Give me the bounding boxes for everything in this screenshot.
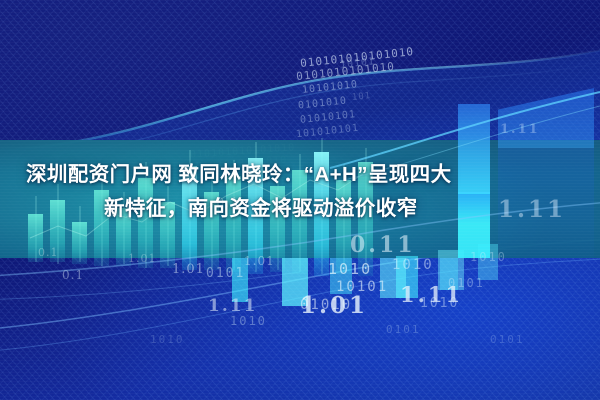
stock-news-banner: 010101010101010 0101010101010 10101010 0… xyxy=(0,0,600,400)
binary-stream-low-10: 0101 xyxy=(386,324,421,335)
headline-line-2: 新特征，南向资金将驱动溢价收窄 xyxy=(14,192,586,226)
number-label-10: 1.01 xyxy=(244,254,275,268)
headline: 深圳配资门户网 致同林晓玲：“A+H”呈现四大 新特征，南向资金将驱动溢价收窄 xyxy=(0,158,600,226)
binary-stream-low-6: 0101 xyxy=(206,268,245,279)
binary-stream-low-11: 1010 xyxy=(150,334,185,345)
number-label-13: 0.1 xyxy=(62,268,84,282)
binary-stream-low-7: 1010 xyxy=(230,316,267,327)
number-label-12: 1.01 xyxy=(128,252,157,265)
binary-stream-low-9: 1010 xyxy=(470,252,507,263)
binary-stream-low-1: 1010 xyxy=(328,264,372,275)
binary-stream-low-8: 0101 xyxy=(448,278,485,289)
binary-stream-low-3: 01010 xyxy=(300,300,352,311)
binary-stream-low-12: 0101 xyxy=(490,334,525,345)
number-label-11: 0.1 xyxy=(38,246,59,259)
headline-line-1: 深圳配资门户网 致同林晓玲：“A+H”呈现四大 xyxy=(14,158,586,192)
binary-stream-low-5: 1010 xyxy=(420,298,459,309)
binary-stream-low-2: 10101 xyxy=(336,282,388,293)
number-label-9: 1.01 xyxy=(172,262,205,277)
number-label-3: 1.11 xyxy=(500,122,540,137)
number-label-2: 0.11 xyxy=(350,232,416,258)
binary-stream-low-4: 1010 xyxy=(392,260,434,271)
number-label-6: 1.11 xyxy=(208,296,257,316)
